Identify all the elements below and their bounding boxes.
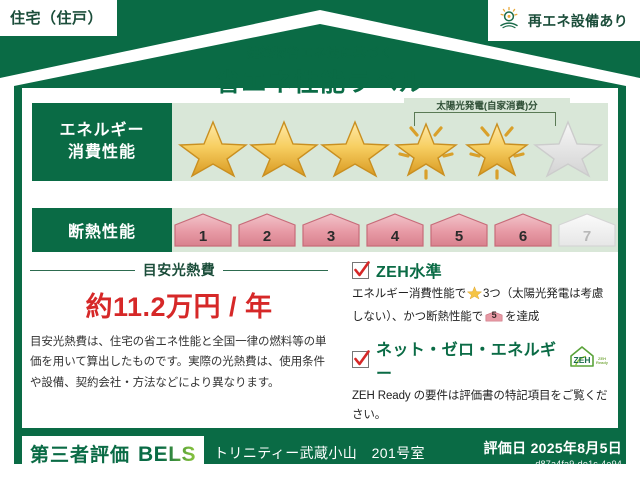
star-filled xyxy=(320,114,390,180)
badge-building-type-label: 住宅（住戸） xyxy=(10,10,103,27)
star-inline-icon xyxy=(467,285,482,308)
zeh-standard-level-badge: 5 xyxy=(485,308,503,323)
evaluation-date: 評価日 2025年8月5日 xyxy=(483,438,622,458)
zeh-standard-text-part3: を達成 xyxy=(505,311,539,323)
insulation-level-number: 1 xyxy=(172,228,234,245)
insulation-level-house-empty: 7 xyxy=(556,212,618,248)
lower-content: 目安光熱費 約11.2万円 / 年 目安光熱費は、住宅の省エネ性能と全国一律の燃… xyxy=(22,258,618,418)
utility-cost-heading: 目安光熱費 xyxy=(30,260,328,280)
insulation-level-number: 6 xyxy=(492,228,554,245)
zeh-ready-logo-icon: ZEH ZEH Ready xyxy=(568,344,612,375)
zeh-standard-body: エネルギー消費性能で3つ（太陽光発電は考慮しない）、かつ断熱性能で5を達成 xyxy=(352,285,612,328)
insulation-level-house: 5 xyxy=(428,212,490,248)
svg-text:ZEH: ZEH xyxy=(574,355,591,365)
evaluation-info: 評価日 2025年8月5日 d87a4fa9-de1c-4e94 xyxy=(483,438,622,469)
energy-performance-label-line2: 消費性能 xyxy=(68,142,136,164)
label-footer: 第三者評価 BELS トリニティー武蔵小山 201号室 評価日 2025年8月5… xyxy=(0,428,640,478)
solar-bracket xyxy=(414,112,556,126)
net-zero-body: ZEH Ready の要件は評価書の特記項目をご覧ください。 xyxy=(352,387,612,427)
energy-performance-label-line1: エネルギー xyxy=(59,120,144,142)
insulation-level-number: 4 xyxy=(364,228,426,245)
zeh-standard-header: ZEH水準 xyxy=(352,258,612,282)
insulation-level-number: 3 xyxy=(300,228,362,245)
insulation-levels-area: 1 2 3 4 5 xyxy=(172,208,618,252)
star-filled xyxy=(249,114,319,180)
zeh-standard-text-part1: エネルギー消費性能で xyxy=(352,288,466,300)
checkmark-icon xyxy=(352,351,369,368)
bels-badge-jp-label: 第三者評価 xyxy=(30,440,130,467)
badge-renewable-equipment: 再エネ設備あり xyxy=(488,0,640,41)
zeh-standard-star-count: 3つ xyxy=(483,288,501,300)
insulation-level-house: 3 xyxy=(300,212,362,248)
label-title-main: 省エネ性能ラベル xyxy=(0,63,640,99)
utility-cost-heading-label: 目安光熱費 xyxy=(143,260,216,280)
solar-bracket-caption: 太陽光発電(自家消費)分 xyxy=(404,98,570,112)
insulation-level-inline-icon: 5 xyxy=(485,309,503,324)
energy-performance-stars-area: 太陽光発電(自家消費)分 xyxy=(172,103,608,181)
insulation-performance-label: 断熱性能 xyxy=(32,208,172,252)
net-zero-title: ネット・ゼロ・エネルギー xyxy=(376,336,557,384)
net-zero-header: ネット・ゼロ・エネルギー ZEH ZEH Ready xyxy=(352,336,612,384)
insulation-level-house: 4 xyxy=(364,212,426,248)
energy-performance-row: エネルギー 消費性能 太陽光発電(自家消費)分 xyxy=(32,103,608,181)
net-zero-energy-block: ネット・ゼロ・エネルギー ZEH ZEH Ready ZEH Ready の要件… xyxy=(352,336,612,427)
svg-text:Ready: Ready xyxy=(596,360,609,365)
bels-badge: 第三者評価 BELS xyxy=(22,436,204,471)
insulation-level-number: 2 xyxy=(236,228,298,245)
label-title-block: 建築物省エネ法に基づく 省エネ性能ラベル xyxy=(0,42,640,99)
star-filled xyxy=(178,114,248,180)
insulation-level-house: 2 xyxy=(236,212,298,248)
utility-cost-column: 目安光熱費 約11.2万円 / 年 目安光熱費は、住宅の省エネ性能と全国一律の燃… xyxy=(22,258,342,418)
zeh-column: ZEH水準 エネルギー消費性能で3つ（太陽光発電は考慮しない）、かつ断熱性能で5… xyxy=(342,258,618,418)
badge-building-type: 住宅（住戸） xyxy=(0,0,117,36)
insulation-level-house: 1 xyxy=(172,212,234,248)
insulation-performance-row: 断熱性能 1 2 3 4 xyxy=(32,208,608,252)
bels-badge-en-label: BELS xyxy=(138,443,196,467)
sun-solar-icon xyxy=(498,6,522,35)
divider-right xyxy=(223,270,328,271)
zeh-standard-block: ZEH水準 エネルギー消費性能で3つ（太陽光発電は考慮しない）、かつ断熱性能で5… xyxy=(352,258,612,328)
zeh-standard-title: ZEH水準 xyxy=(376,258,442,282)
utility-cost-value: 約11.2万円 / 年 xyxy=(30,285,328,324)
label-title-sub: 建築物省エネ法に基づく xyxy=(0,42,640,61)
badge-renewable-label: 再エネ設備あり xyxy=(528,11,628,31)
insulation-level-house: 6 xyxy=(492,212,554,248)
insulation-level-number: 7 xyxy=(556,228,618,245)
building-name: トリニティー武蔵小山 201号室 xyxy=(214,443,425,463)
energy-performance-label: 住宅（住戸） 再エネ設備あり 建築物省エネ法に基づく 省エネ性能ラベル xyxy=(0,0,640,478)
checkmark-icon xyxy=(352,262,369,279)
utility-cost-note: 目安光熱費は、住宅の省エネ性能と全国一律の燃料等の単価を用いて算出したものです。… xyxy=(30,332,328,393)
energy-performance-label: エネルギー 消費性能 xyxy=(32,103,172,181)
evaluation-id: d87a4fa9-de1c-4e94 xyxy=(483,459,622,469)
insulation-level-number: 5 xyxy=(428,228,490,245)
divider-left xyxy=(30,270,135,271)
insulation-level-scale: 1 2 3 4 5 xyxy=(172,212,618,248)
